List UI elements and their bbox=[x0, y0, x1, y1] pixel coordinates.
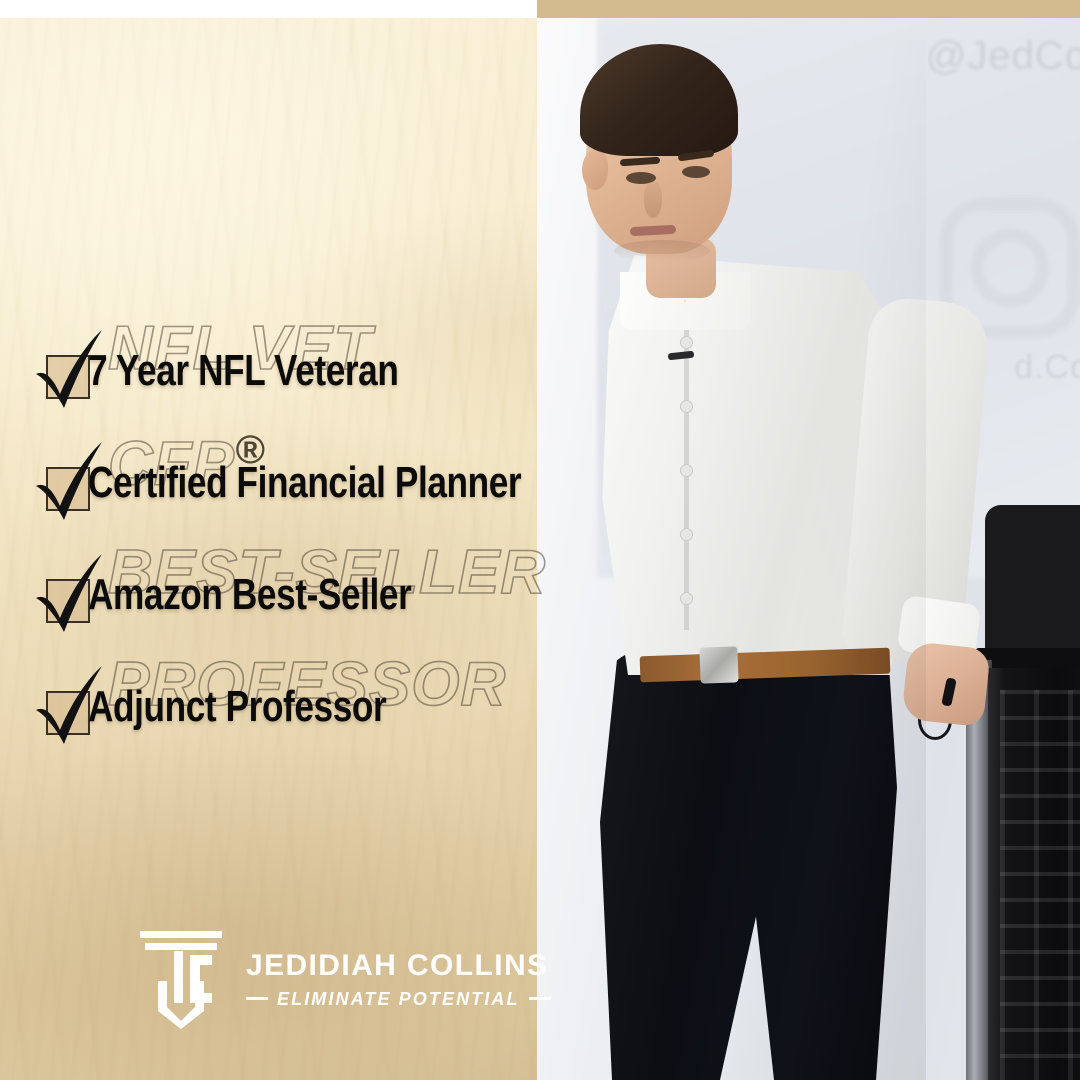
top-bar-tan-segment bbox=[537, 0, 1080, 18]
shirt-button bbox=[680, 592, 693, 605]
lectern-top-panel bbox=[985, 505, 1080, 660]
top-accent-bar bbox=[0, 0, 1080, 18]
list-item: BEST-SELLER Amazon Best-Seller bbox=[0, 542, 560, 654]
shirt-button bbox=[680, 464, 693, 477]
jc-shield-icon bbox=[138, 925, 224, 1029]
credentials-checklist: NFL VET 7 Year NFL Veteran CFP® Certifie… bbox=[0, 318, 560, 766]
shirt-button bbox=[680, 336, 693, 349]
brand-wordmark: JEDIDIAH COLLINS ELIMINATE POTENTIAL bbox=[246, 947, 551, 1008]
brand-logo-lockup: JEDIDIAH COLLINS ELIMINATE POTENTIAL bbox=[138, 922, 558, 1032]
list-item-label: Adjunct Professor bbox=[88, 682, 386, 732]
navy-dress-pants bbox=[600, 650, 900, 1080]
brand-name: JEDIDIAH COLLINS bbox=[246, 951, 551, 981]
brand-tagline: ELIMINATE POTENTIAL bbox=[246, 990, 551, 1008]
shirt-button bbox=[680, 400, 693, 413]
list-item: CFP® Certified Financial Planner bbox=[0, 430, 560, 542]
tagline-dash-left bbox=[246, 997, 268, 1000]
top-bar-white-segment bbox=[0, 0, 537, 18]
hair bbox=[580, 44, 738, 156]
lectern-texture bbox=[1000, 690, 1080, 1080]
nose bbox=[644, 182, 662, 218]
jaw-shadow bbox=[614, 240, 710, 262]
list-item-label: Certified Financial Planner bbox=[88, 458, 521, 508]
list-item: NFL VET 7 Year NFL Veteran bbox=[0, 318, 560, 430]
ear bbox=[582, 150, 608, 190]
list-item-label: Amazon Best-Seller bbox=[88, 570, 411, 620]
tagline-text: ELIMINATE POTENTIAL bbox=[277, 990, 520, 1008]
list-item: PROFESSOR Adjunct Professor bbox=[0, 654, 560, 766]
promo-graphic: @JedCo d.Co bbox=[0, 0, 1080, 1080]
eye-right bbox=[682, 166, 710, 178]
tagline-dash-right bbox=[529, 997, 551, 1000]
belt-buckle bbox=[699, 646, 738, 683]
shirt-button bbox=[680, 528, 693, 541]
list-item-label: 7 Year NFL Veteran bbox=[88, 346, 398, 396]
